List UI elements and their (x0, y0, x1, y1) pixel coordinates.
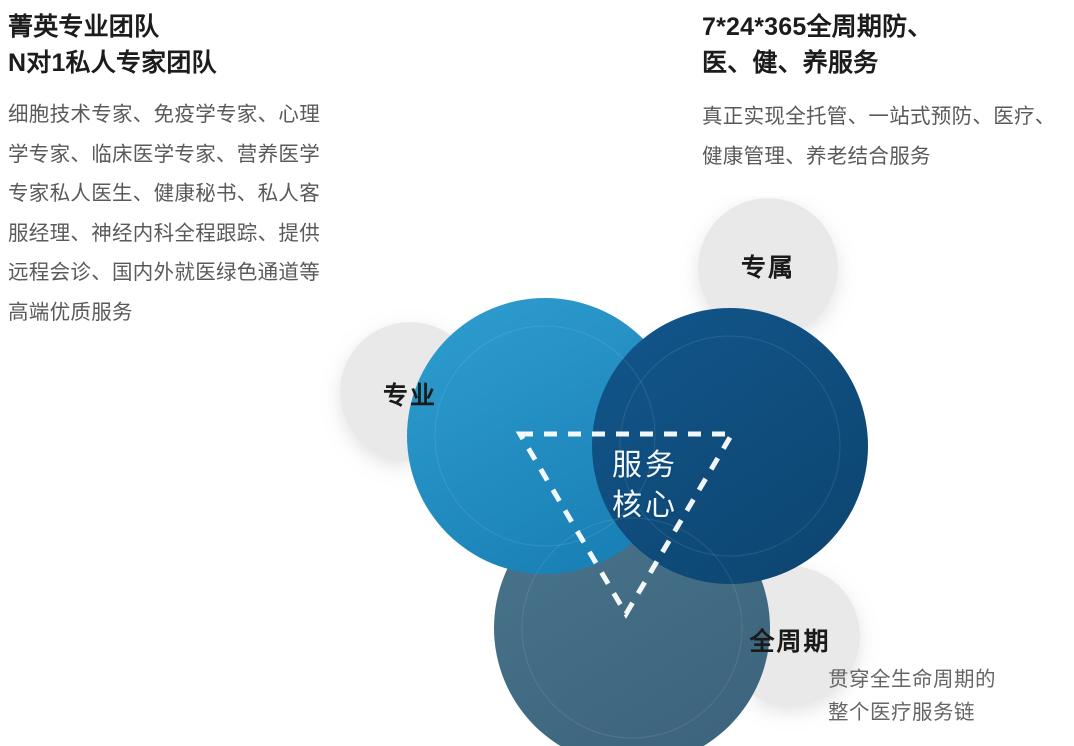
venn-core-line-2: 核心 (575, 486, 715, 526)
venn-label-lifecycle: 全周期 (710, 622, 870, 658)
venn-core-label: 服务 核心 (575, 446, 715, 526)
right-heading-line-1: 7*24*365全周期防、 (702, 10, 1074, 46)
left-heading-line-1: 菁英专业团队 (8, 10, 328, 46)
left-text-panel: 菁英专业团队 N对1私人专家团队 细胞技术专家、免疫学专家、心理学专家、临床医学… (8, 10, 328, 332)
right-heading-line-2: 医、健、养服务 (702, 46, 1074, 82)
venn-core-line-1: 服务 (575, 446, 715, 486)
right-panel-body: 真正实现全托管、一站式预防、医疗、健康管理、养老结合服务 (702, 97, 1074, 176)
left-panel-body: 细胞技术专家、免疫学专家、心理学专家、临床医学专家、营养医学专家私人医生、健康秘… (8, 95, 320, 332)
venn-label-exclusive-wrap: 专属 (698, 198, 838, 338)
left-heading-line-2: N对1私人专家团队 (8, 46, 328, 82)
venn-label-exclusive: 专属 (698, 248, 838, 284)
lifecycle-caption-line-1: 贯穿全生命周期的 (828, 663, 1074, 696)
left-panel-heading: 菁英专业团队 N对1私人专家团队 (8, 10, 328, 81)
lifecycle-caption: 贯穿全生命周期的 整个医疗服务链 (828, 663, 1074, 729)
right-text-panel: 7*24*365全周期防、 医、健、养服务 真正实现全托管、一站式预防、医疗、健… (702, 10, 1074, 176)
venn-label-professional-wrap: 专业 (340, 322, 480, 462)
right-panel-heading: 7*24*365全周期防、 医、健、养服务 (702, 10, 1074, 81)
venn-label-professional: 专业 (340, 376, 480, 412)
lifecycle-caption-line-2: 整个医疗服务链 (828, 696, 1074, 729)
